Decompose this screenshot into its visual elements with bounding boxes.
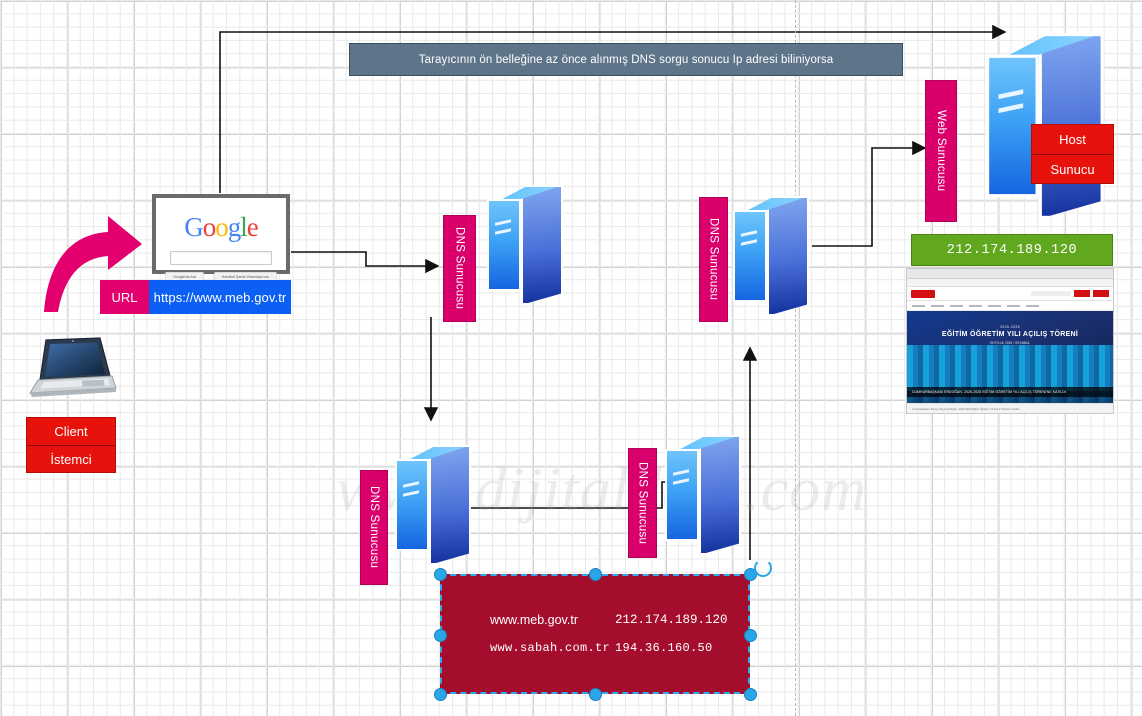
resize-handle-sw[interactable] [434,688,447,701]
website-preview[interactable]: 2025-2026 EĞİTİM ÖĞRETİM YILI AÇILIŞ TÖR… [906,268,1114,414]
site-hero-banner: 2025-2026 EĞİTİM ÖĞRETİM YILI AÇILIŞ TÖR… [907,311,1113,403]
browser-window[interactable]: Google Google'da Ara Kendimi Şanslı Hiss… [152,194,290,274]
resize-handle-se[interactable] [744,688,757,701]
cache-note-banner: Tarayıcının ön belleğine az önce alınmış… [349,43,903,76]
table-row: www.meb.gov.tr 212.174.189.120 [442,613,748,627]
client-label-en: Client [27,418,115,445]
resize-handle-nw[interactable] [434,568,447,581]
host-box: Host Sunucu [1031,124,1114,184]
dns-server-4-label: DNS Sunucusu [699,197,728,322]
dns-server-2-label: DNS Sunucusu [628,448,657,558]
record-ip: 194.36.160.50 [615,641,713,655]
dns-server-1-label: DNS Sunucusu [443,215,476,322]
hero-note: 09 EYLÜL 2025 / İSTANBUL [907,341,1113,345]
client-label-tr: İstemci [27,445,115,472]
hero-subtext: Cumhurbaşkanı Recep Tayyip Erdoğan, 2025… [907,403,1113,414]
dns-server-3-label: DNS Sunucusu [360,470,388,585]
host-label-en: Host [1032,125,1113,154]
browser-chrome-bar [907,269,1113,279]
web-server-label: Web Sunucusu [925,80,957,222]
resize-handle-s[interactable] [589,688,602,701]
table-row: www.sabah.com.tr 194.36.160.50 [442,641,748,655]
site-nav-menu[interactable] [907,301,1113,311]
browser-url-bar[interactable] [907,279,1113,287]
url-input[interactable]: https://www.meb.gov.tr [149,280,291,314]
google-logo: Google [156,212,286,243]
page-break-guide [795,0,796,716]
dns-record-table[interactable]: www.meb.gov.tr 212.174.189.120 www.sabah… [440,574,750,694]
laptop-icon [24,336,118,405]
record-host: www.meb.gov.tr [490,613,615,627]
site-header [907,287,1113,301]
client-box: Client İstemci [26,417,116,473]
record-host: www.sabah.com.tr [490,641,615,655]
host-label-tr: Sunucu [1032,154,1113,183]
resize-handle-e[interactable] [744,629,757,642]
hero-title: EĞİTİM ÖĞRETİM YILI AÇILIŞ TÖRENİ [907,331,1113,338]
diagram-canvas: www.dijitaldevs.com Tarayıcının ön belle… [0,0,1142,716]
hero-headline: CUMHURBAŞKANI ERDOĞAN, 2025-2026 EĞİTİM … [907,387,1113,397]
rotate-icon[interactable] [754,559,772,577]
google-search-input[interactable] [170,251,272,265]
resolved-ip-box: 212.174.189.120 [911,234,1113,266]
resize-handle-n[interactable] [589,568,602,581]
url-tag: URL [100,280,149,314]
hero-year: 2025-2026 [907,325,1113,329]
record-ip: 212.174.189.120 [615,613,728,627]
resize-handle-w[interactable] [434,629,447,642]
